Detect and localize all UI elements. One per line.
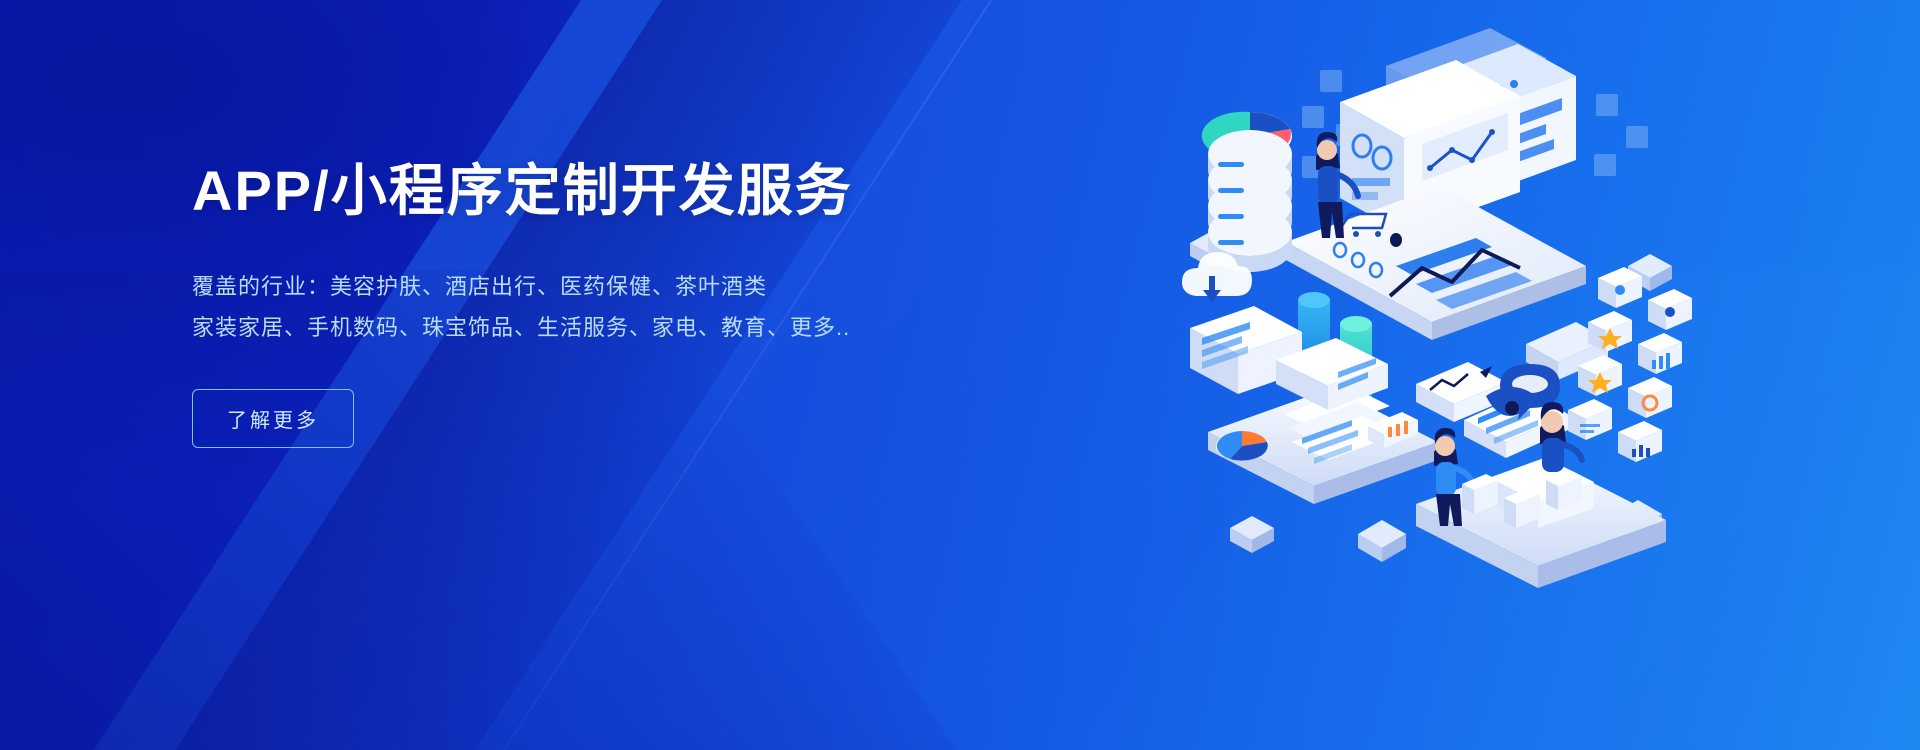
database-stack-icon bbox=[1202, 112, 1292, 272]
hero-copy-block: APP/小程序定制开发服务 覆盖的行业：美容护肤、酒店出行、医药保健、茶叶酒类 … bbox=[192, 160, 853, 448]
learn-more-button[interactable]: 了解更多 bbox=[192, 389, 354, 448]
page-title: APP/小程序定制开发服务 bbox=[192, 160, 853, 223]
hero-subtitle: 覆盖的行业：美容护肤、酒店出行、医药保健、茶叶酒类 家装家居、手机数码、珠宝饰品… bbox=[192, 267, 853, 349]
hero-banner: APP/小程序定制开发服务 覆盖的行业：美容护肤、酒店出行、医药保健、茶叶酒类 … bbox=[0, 0, 1920, 750]
hero-illustration bbox=[1190, 28, 1810, 648]
subtitle-line-1: 覆盖的行业：美容护肤、酒店出行、医药保健、茶叶酒类 bbox=[192, 267, 853, 308]
subtitle-line-2: 家装家居、手机数码、珠宝饰品、生活服务、家电、教育、更多.. bbox=[192, 308, 853, 349]
app-icon-grid bbox=[1568, 267, 1692, 462]
